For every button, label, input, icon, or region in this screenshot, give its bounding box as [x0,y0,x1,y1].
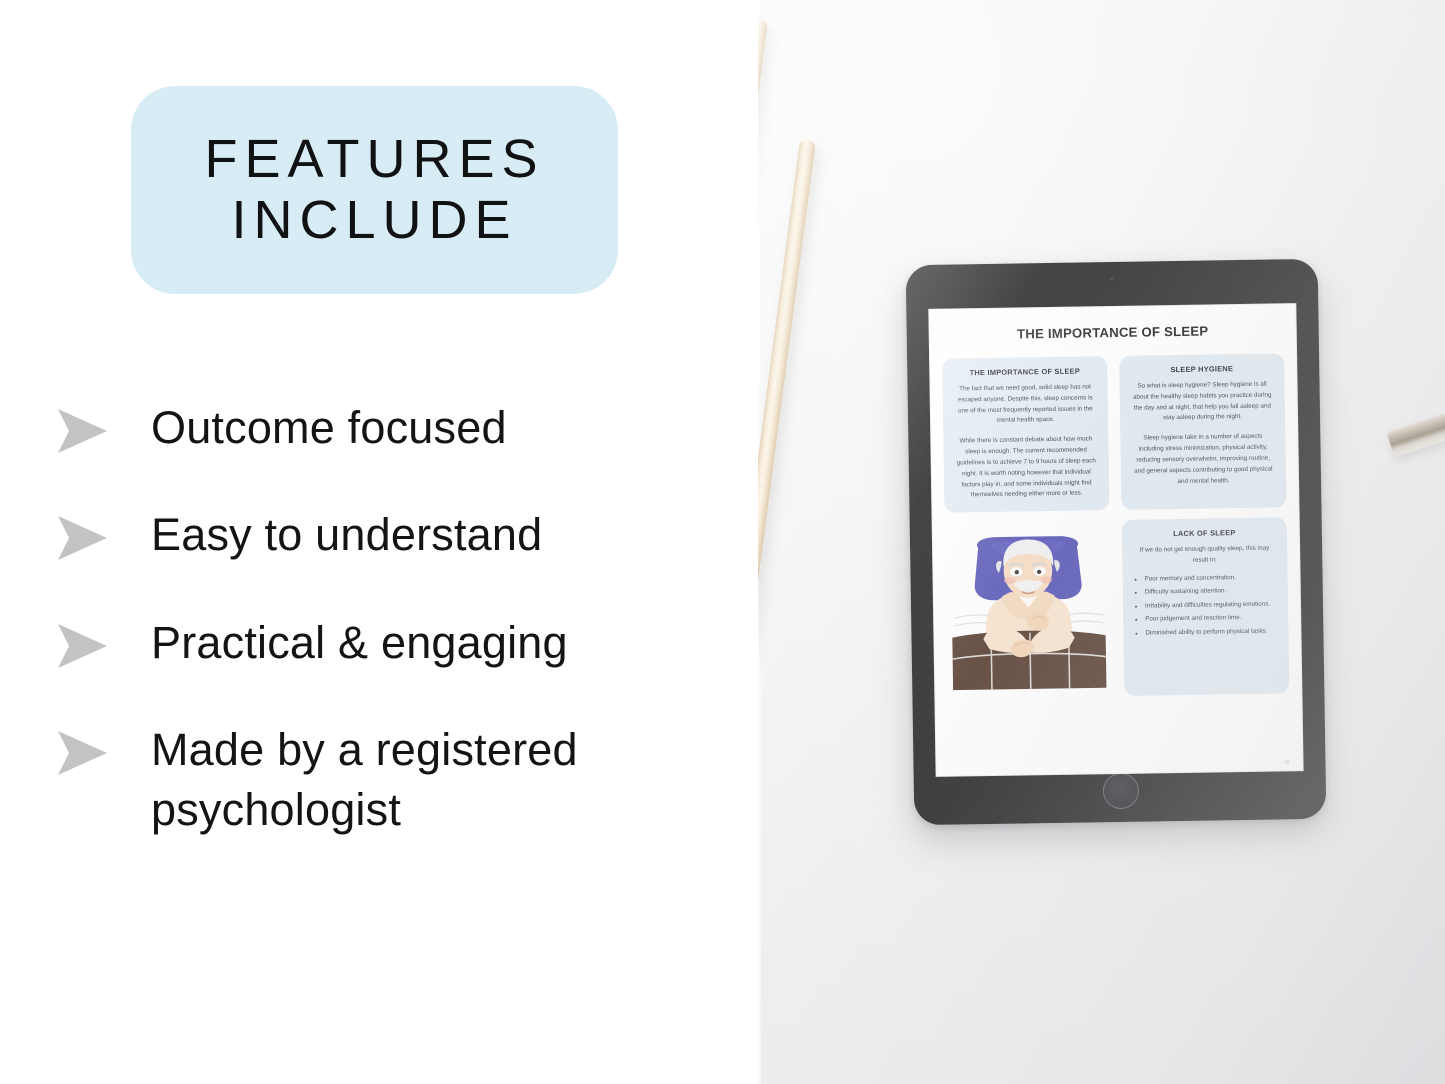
metal-clip-object [1387,413,1445,457]
card-paragraph: The fact that we need good, solid sleep … [954,382,1098,428]
card-paragraph: So what is sleep hygiene? Sleep hygiene … [1130,380,1274,426]
sleep-worksheet: THE IMPORTANCE OF SLEEP THE IMPORTANCE O… [928,303,1303,777]
list-item: Poor memory and concentration. [1145,572,1277,585]
list-item: Poor judgement and reaction time. [1145,613,1277,626]
arrow-right-bullet-icon [55,622,113,670]
list-item: Made by a registered psychologist [55,720,735,839]
card-sleep-hygiene: SLEEP HYGIENE So what is sleep hygiene? … [1119,353,1286,510]
worksheet-grid: THE IMPORTANCE OF SLEEP The fact that we… [942,353,1289,699]
card-lead-text: If we do not get enough quality sleep, t… [1133,544,1276,568]
arrow-right-bullet-icon [55,729,113,777]
card-paragraph: Sleep hygiene take in a number of aspect… [1131,432,1275,488]
page-number: 16 [1284,759,1289,764]
lack-of-sleep-bullets: Poor memory and concentration. Difficult… [1134,572,1278,639]
arrow-right-bullet-icon [55,514,113,562]
tablet-device: THE IMPORTANCE OF SLEEP THE IMPORTANCE O… [906,259,1327,825]
feature-label: Outcome focused [151,398,507,457]
front-camera-icon [1109,277,1114,282]
page-title: THE IMPORTANCE OF SLEEP [942,322,1284,342]
list-item: Easy to understand [55,505,735,564]
card-title: SLEEP HYGIENE [1130,364,1273,375]
feature-label: Easy to understand [151,505,542,564]
card-importance-of-sleep: THE IMPORTANCE OF SLEEP The fact that we… [942,356,1109,513]
card-paragraph: While there is constant debate about how… [954,435,1098,502]
list-item: Diminished ability to perform physical t… [1145,626,1277,639]
features-include-badge: FEATURES INCLUDE [131,86,618,294]
card-title: THE IMPORTANCE OF SLEEP [953,366,1096,377]
promo-graphic: FEATURES INCLUDE Outcome focused Easy [0,0,1445,1084]
badge-line-2: INCLUDE [231,193,517,248]
feature-label: Made by a registered psychologist [151,720,731,839]
illustration-cell [945,520,1113,699]
list-item: Outcome focused [55,398,735,457]
product-photo: THE IMPORTANCE OF SLEEP THE IMPORTANCE O… [758,0,1445,1084]
badge-line-1: FEATURES [204,132,544,187]
elderly-man-awake-in-bed-illustration [945,520,1113,699]
left-text-panel: FEATURES INCLUDE Outcome focused Easy [0,0,758,1084]
wooden-dowel-stick [758,139,816,657]
list-item: Difficulty sustaining attention. [1145,586,1277,599]
list-item: Practical & engaging [55,613,735,672]
tablet-screen[interactable]: THE IMPORTANCE OF SLEEP THE IMPORTANCE O… [928,303,1303,777]
card-title: LACK OF SLEEP [1133,528,1276,539]
card-lack-of-sleep: LACK OF SLEEP If we do not get enough qu… [1122,518,1290,697]
features-list: Outcome focused Easy to understand Pract… [55,398,735,839]
feature-label: Practical & engaging [151,613,568,672]
arrow-right-bullet-icon [55,407,113,455]
list-item: Irritability and difficulties regulating… [1145,599,1277,612]
